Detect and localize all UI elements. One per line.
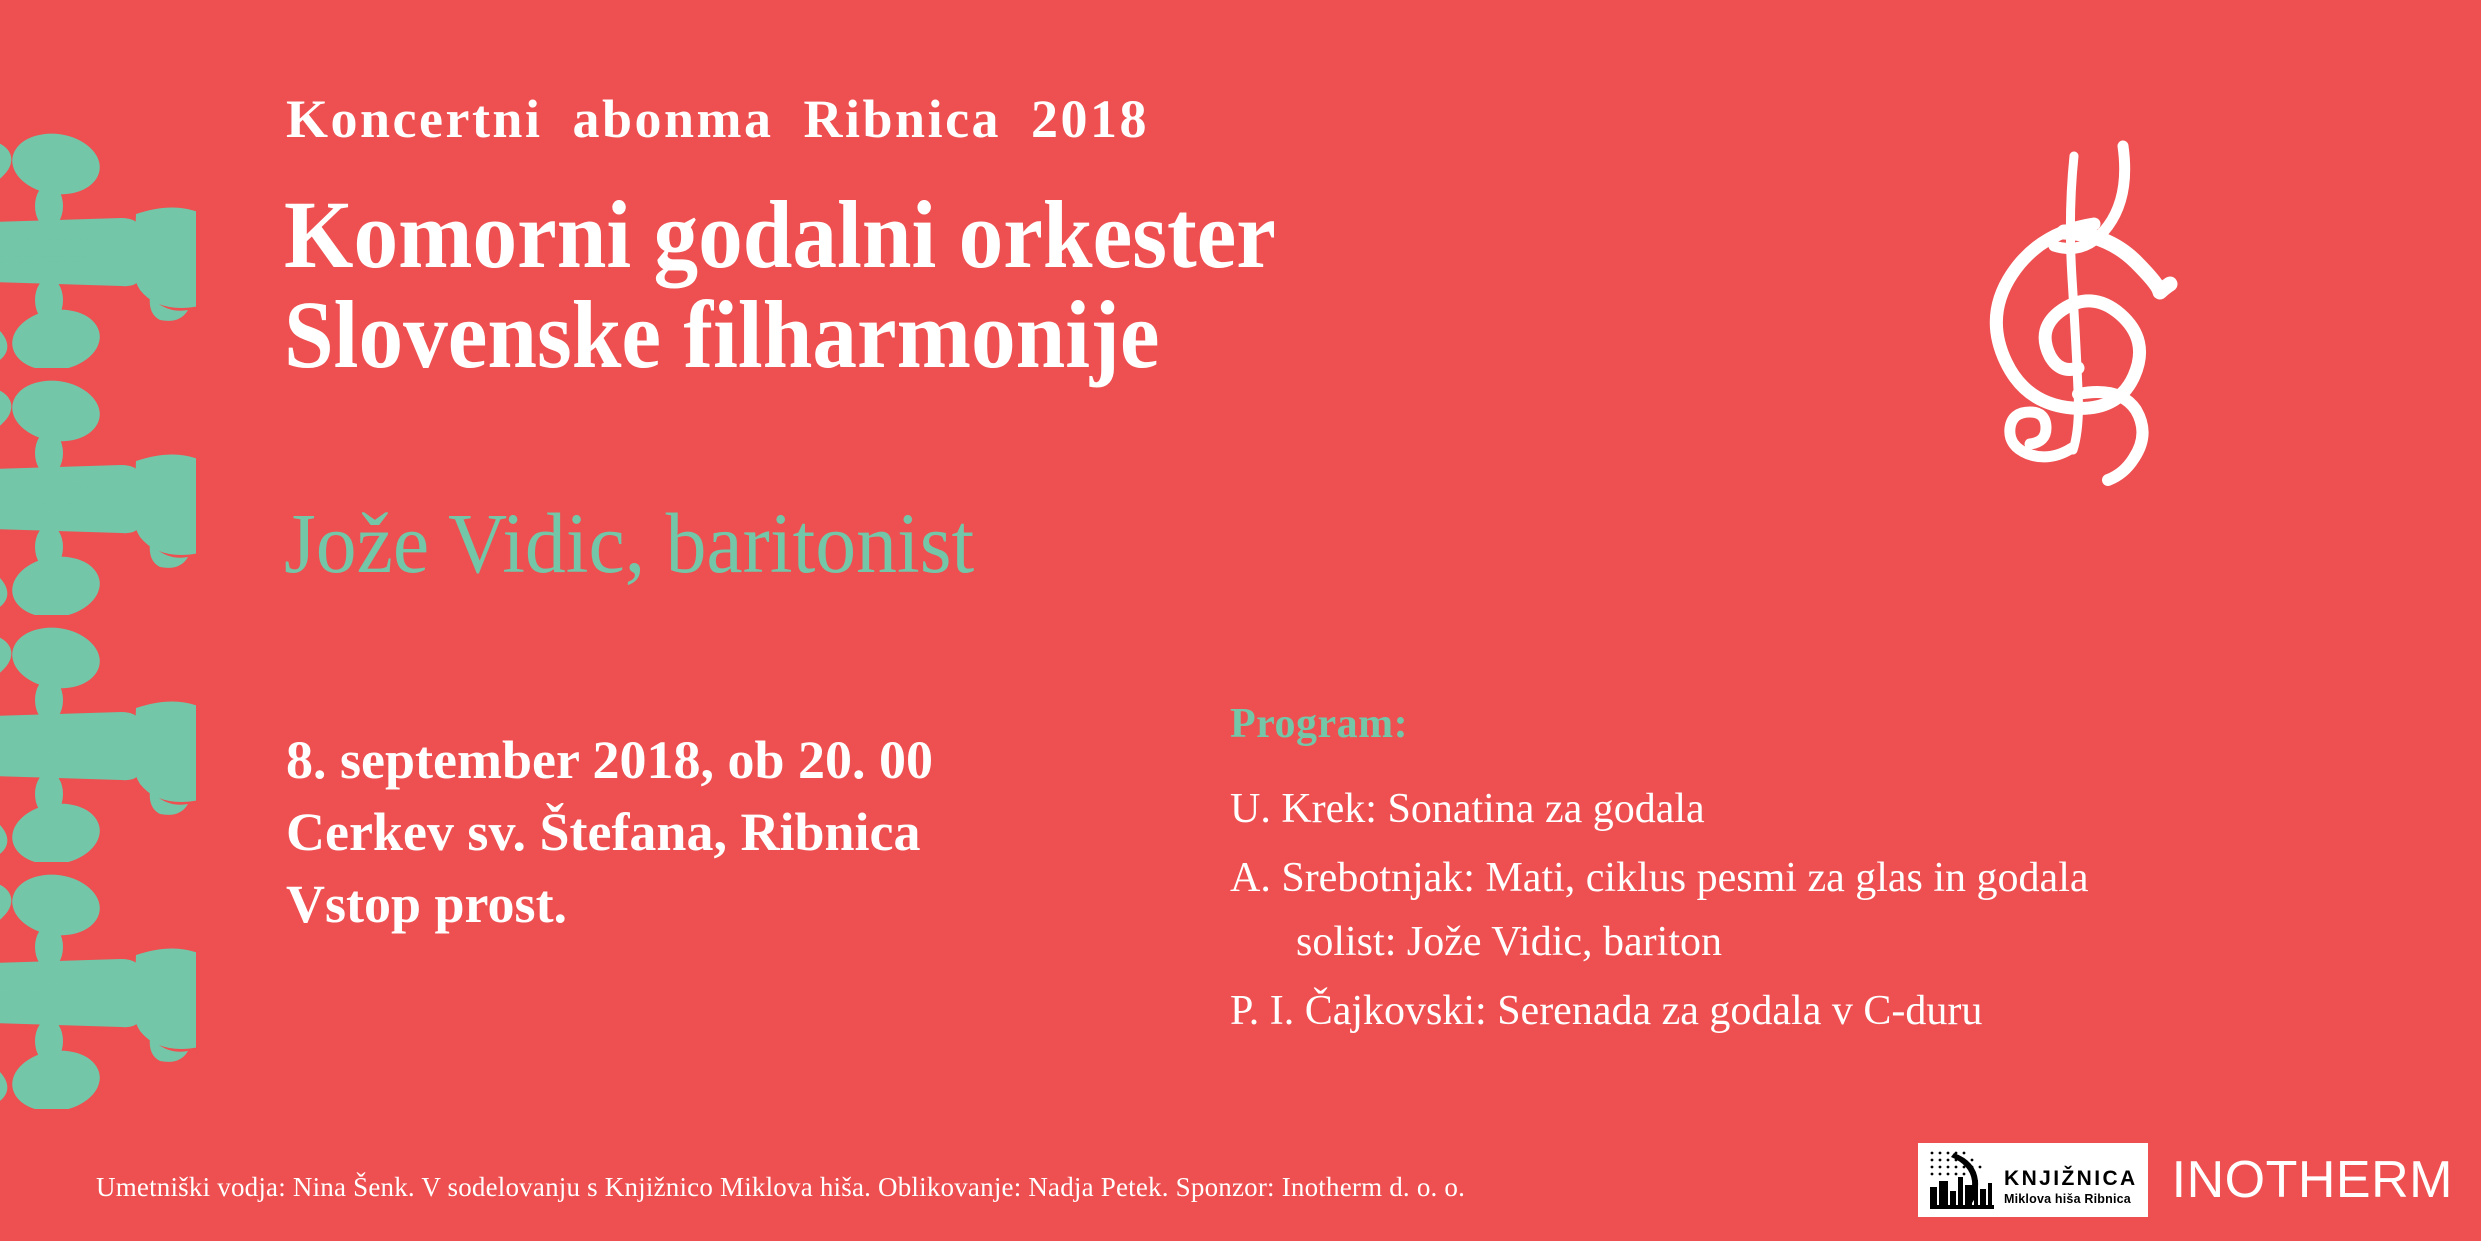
program-heading: Program: — [1230, 700, 2380, 748]
library-logo-name: KNJIŽNICA — [2004, 1166, 2138, 1190]
violin-scroll-pattern — [0, 118, 196, 1128]
treble-clef-icon — [1968, 128, 2218, 488]
program-item-soloist: solist: Jože Vidic, bariton — [1230, 915, 2380, 970]
library-logo-subtitle: Miklova hiša Ribnica — [2004, 1192, 2132, 1206]
sponsor-logo-inotherm: INOTHERM — [2172, 1154, 2453, 1206]
logo-row: KNJIŽNICA Miklova hiša Ribnica INOTHERM — [1918, 1143, 2453, 1217]
credits-line: Umetniški vodja: Nina Šenk. V sodelovanj… — [96, 1172, 1465, 1203]
event-entry: Vstop prost. — [286, 869, 933, 941]
event-date-time: 8. september 2018, ob 20. 00 — [286, 725, 933, 797]
event-venue: Cerkev sv. Štefana, Ribnica — [286, 797, 933, 869]
violin-scroll-icon — [0, 612, 196, 862]
concert-poster: Koncertni abonma Ribnica 2018 Komorni go… — [0, 0, 2481, 1241]
headline-line-2: Slovenske filharmonije — [284, 285, 1276, 385]
violin-scroll-icon — [0, 859, 196, 1109]
program-item: U. Krek: Sonatina za godala — [1230, 782, 2380, 837]
headline-line-1: Komorni godalni orkester — [284, 185, 1276, 285]
page-title: Komorni godalni orkester Slovenske filha… — [284, 185, 1276, 385]
library-logo: KNJIŽNICA Miklova hiša Ribnica — [1918, 1143, 2148, 1217]
violin-scroll-icon — [0, 118, 196, 368]
soloist-name: Jože Vidic, baritonist — [284, 500, 974, 586]
series-eyebrow: Koncertni abonma Ribnica 2018 — [286, 88, 1149, 150]
violin-scroll-icon — [0, 365, 196, 615]
event-details: 8. september 2018, ob 20. 00 Cerkev sv. … — [286, 725, 933, 940]
program-item: A. Srebotnjak: Mati, ciklus pesmi za gla… — [1230, 851, 2380, 906]
program-section: Program: U. Krek: Sonatina za godala A. … — [1230, 700, 2380, 1054]
program-item: P. I. Čajkovski: Serenada za godala v C-… — [1230, 984, 2380, 1039]
